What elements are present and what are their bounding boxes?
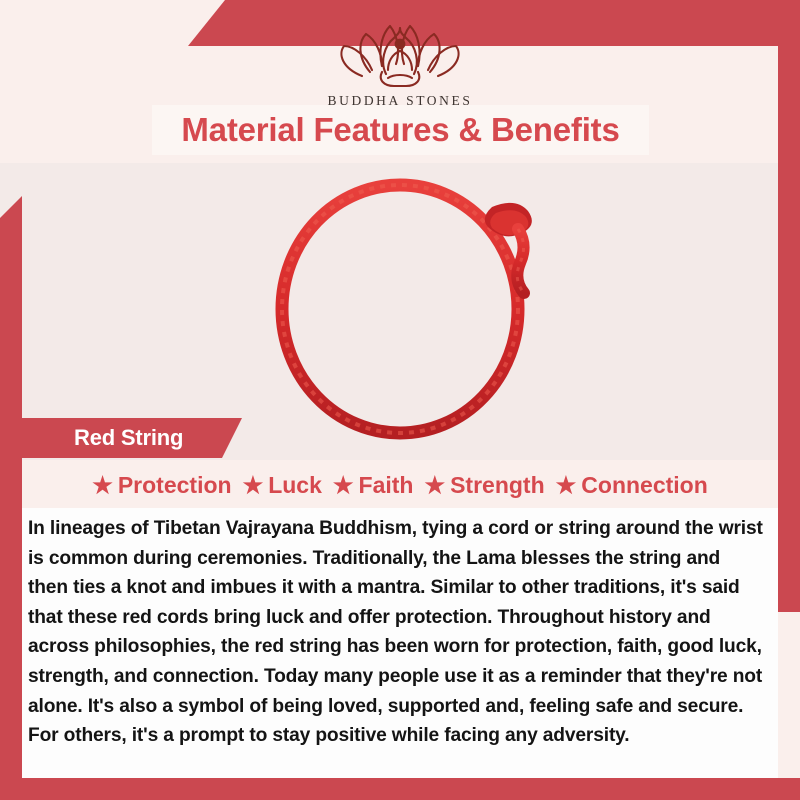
page-title: Material Features & Benefits xyxy=(181,111,619,149)
benefit-label: Faith xyxy=(359,472,414,499)
benefits-row: ★ Protection ★ Luck ★ Faith ★ Strength ★… xyxy=(22,462,778,508)
star-icon: ★ xyxy=(243,474,264,497)
lotus-meditation-icon xyxy=(330,14,470,90)
star-icon: ★ xyxy=(333,474,354,497)
benefit-item-luck: ★ Luck xyxy=(243,472,322,499)
decorative-band-bottom xyxy=(0,778,800,800)
benefit-label: Connection xyxy=(581,472,708,499)
benefit-label: Luck xyxy=(268,472,322,499)
star-icon: ★ xyxy=(424,474,445,497)
benefit-item-faith: ★ Faith xyxy=(333,472,414,499)
benefit-label: Protection xyxy=(118,472,232,499)
material-name-ribbon: Red String xyxy=(22,418,242,458)
benefit-item-strength: ★ Strength xyxy=(424,472,544,499)
brand-logo: BUDDHA STONES xyxy=(0,14,800,109)
benefit-item-connection: ★ Connection xyxy=(556,472,708,499)
poster-canvas: BUDDHA STONES Material Features & Benefi… xyxy=(0,0,800,800)
star-icon: ★ xyxy=(92,474,113,497)
description-text: In lineages of Tibetan Vajrayana Buddhis… xyxy=(28,514,764,751)
benefit-item-protection: ★ Protection xyxy=(92,472,231,499)
benefit-label: Strength xyxy=(450,472,545,499)
decorative-band-left xyxy=(0,196,22,800)
star-icon: ★ xyxy=(556,474,577,497)
title-banner: Material Features & Benefits xyxy=(152,105,649,155)
material-name-label: Red String xyxy=(22,425,183,451)
description-panel: In lineages of Tibetan Vajrayana Buddhis… xyxy=(22,508,778,778)
